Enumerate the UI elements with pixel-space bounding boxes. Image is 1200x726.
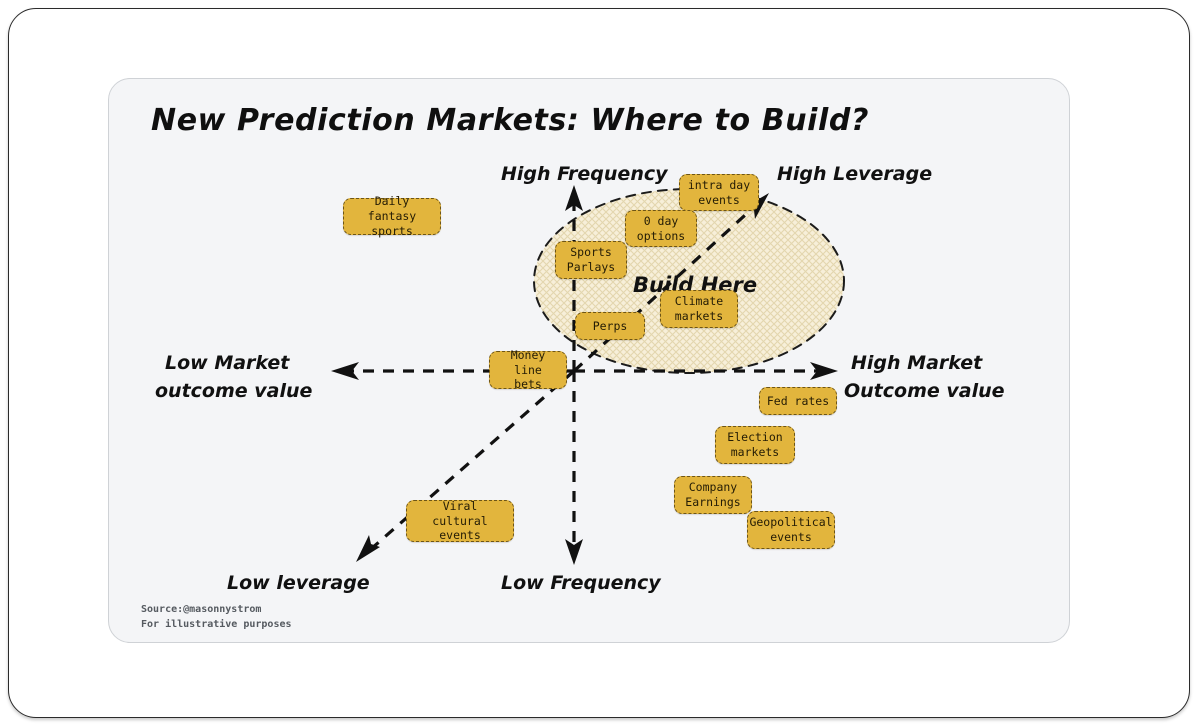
axis-label-high-leverage: High Leverage [777, 162, 932, 187]
node-election-markets[interactable]: Election markets [715, 426, 795, 464]
page-title: New Prediction Markets: Where to Build? [151, 103, 869, 138]
arrowhead-diagonal-down [356, 535, 380, 562]
screenshot-root: New Prediction Markets: Where to Build? … [0, 0, 1200, 726]
node-money-line-bets[interactable]: Money line bets [489, 351, 567, 389]
axis-label-high-frequency: High Frequency [501, 162, 668, 187]
axis-label-low-market-line2: outcome value [155, 379, 312, 405]
axis-label-low-frequency: Low Frequency [501, 571, 661, 596]
arrowhead-down [565, 539, 583, 565]
node-climate-markets[interactable]: Climate markets [660, 290, 738, 328]
node-intra-day-events[interactable]: intra day events [679, 174, 759, 211]
axis-label-high-market-line1: High Market [851, 351, 982, 377]
node-daily-fantasy-sports[interactable]: Daily fantasy sports [343, 198, 441, 235]
axis-label-low-leverage: Low leverage [227, 571, 370, 596]
node-viral-cultural-events[interactable]: Viral cultural events [406, 500, 514, 542]
node-fed-rates[interactable]: Fed rates [759, 387, 837, 415]
node-zero-day-options[interactable]: 0 day options [625, 210, 697, 247]
source-credit: Source:@masonnystromFor illustrative pur… [141, 603, 292, 632]
disclaimer-line: For illustrative purposes [141, 619, 292, 630]
node-company-earnings[interactable]: Company Earnings [674, 476, 752, 514]
axis-label-high-market-line2: Outcome value [844, 379, 1005, 405]
axis-label-low-market-line1: Low Market [165, 351, 289, 377]
node-geopolitical-events[interactable]: Geopolitical events [747, 511, 835, 549]
arrowhead-left [331, 362, 359, 380]
whiteboard-card: New Prediction Markets: Where to Build? … [108, 78, 1070, 643]
node-sports-parlays[interactable]: Sports Parlays [555, 241, 627, 279]
source-line: Source:@masonnystrom [141, 604, 261, 615]
node-perps[interactable]: Perps [575, 312, 645, 340]
